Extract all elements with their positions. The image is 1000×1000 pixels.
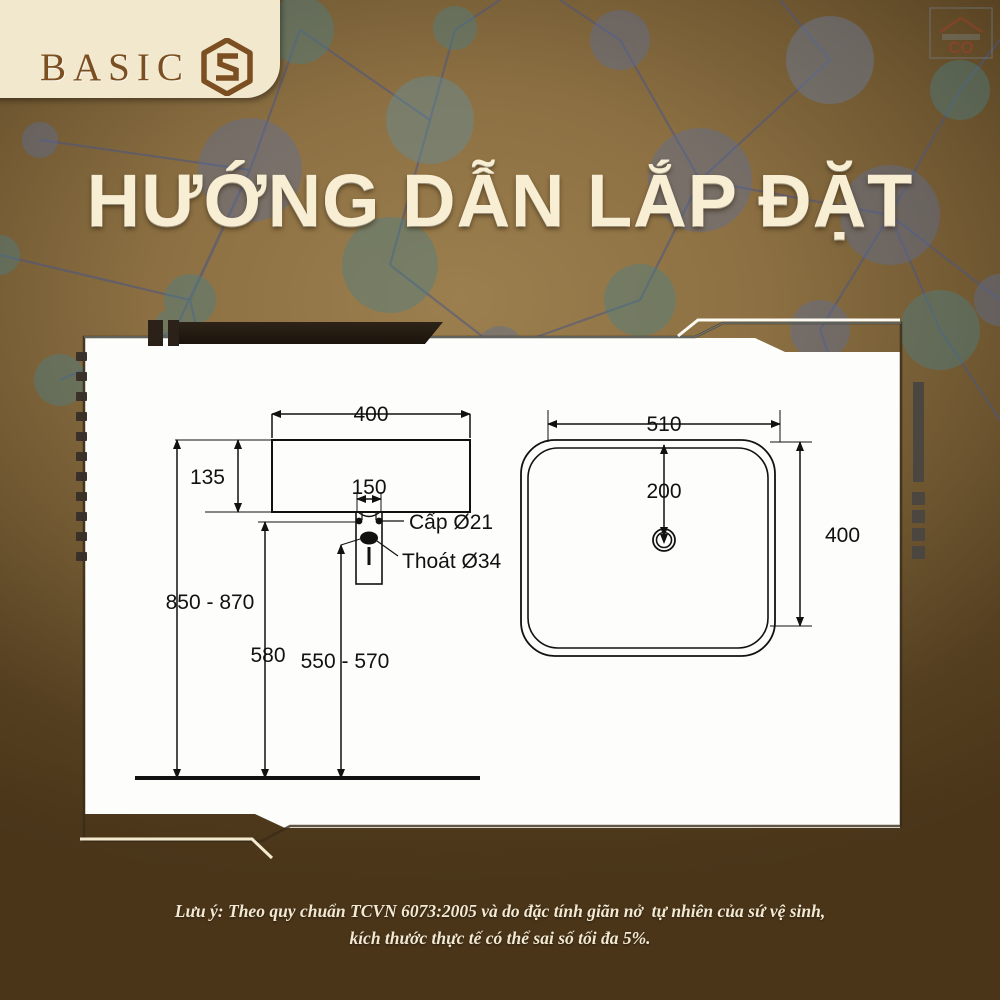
footer-note: Lưu ý: Theo quy chuẩn TCVN 6073:2005 và … [0,898,1000,952]
footer-note-line-1: Lưu ý: Theo quy chuẩn TCVN 6073:2005 và … [0,898,1000,925]
dim-cabinet-width: 400 [353,403,388,426]
footer-note-line-2: kích thước thực tế có thể sai số tối đa … [0,925,1000,952]
dim-floor-to-top: 850 - 870 [166,591,255,614]
dim-floor-to-drain: 550 - 570 [301,650,390,673]
dim-basin-depth: 400 [825,524,860,547]
callout-drain: Thoát Ø34 [402,550,502,573]
dim-floor-to-cabinet-bottom: 580 [250,644,285,667]
dim-basin-width: 510 [646,413,681,436]
dim-plumbing-width: 150 [351,476,386,499]
technical-drawing: 400 135 150 850 - 870 580 550 - 570 Cấp … [0,0,1000,1000]
technical-drawing-panel-wrapper: 400 135 150 850 - 870 580 550 - 570 Cấp … [0,0,1000,1000]
dim-drain-offset: 200 [646,480,681,503]
callout-supply: Cấp Ø21 [409,511,493,534]
dim-cabinet-height: 135 [190,466,225,489]
